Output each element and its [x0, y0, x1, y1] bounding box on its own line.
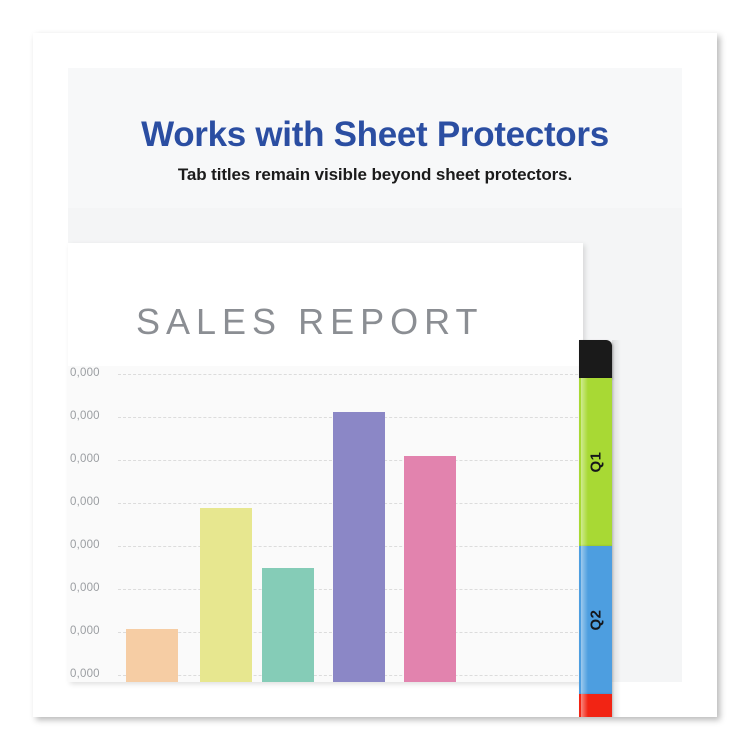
divider-tab-label: Q2 — [587, 609, 604, 630]
binder-clip-icon — [579, 340, 612, 378]
marketing-panel: Works with Sheet Protectors Tab titles r… — [68, 68, 682, 682]
divider-tab-stack: Q1Q2 — [573, 340, 619, 717]
header-block: Works with Sheet Protectors Tab titles r… — [68, 68, 682, 208]
chart-bar — [126, 629, 178, 682]
product-photo: Works with Sheet Protectors Tab titles r… — [33, 33, 717, 717]
y-axis-tick-label: 0,000 — [70, 539, 114, 551]
chart-bar — [200, 508, 252, 682]
y-axis-tick-label: 0,000 — [70, 625, 114, 637]
chart-bar — [333, 412, 385, 682]
bar-chart: 0,0000,0000,0000,0000,0000,0000,0000,000 — [68, 388, 583, 682]
y-axis-tick-label: 0,000 — [70, 367, 114, 379]
y-axis-tick-label: 0,000 — [70, 582, 114, 594]
gridline — [118, 374, 583, 375]
y-axis-tick-label: 0,000 — [70, 453, 114, 465]
chart-bar — [262, 568, 314, 682]
chart-bar — [404, 456, 456, 682]
divider-tab-q2[interactable]: Q2 — [579, 546, 612, 694]
y-axis-tick-label: 0,000 — [70, 668, 114, 680]
y-axis-tick-label: 0,000 — [70, 410, 114, 422]
page-title: Works with Sheet Protectors — [68, 115, 682, 155]
divider-tab-label: Q1 — [587, 451, 604, 472]
report-sheet: SALES REPORT 0,0000,0000,0000,0000,0000,… — [68, 243, 583, 682]
binder-spine-shadow — [612, 340, 621, 717]
divider-tab[interactable] — [579, 694, 612, 717]
report-title: SALES REPORT — [136, 301, 483, 343]
divider-tab-q1[interactable]: Q1 — [579, 378, 612, 546]
y-axis-tick-label: 0,000 — [70, 496, 114, 508]
page-subtitle: Tab titles remain visible beyond sheet p… — [68, 165, 682, 185]
tab-sheen — [581, 694, 588, 717]
